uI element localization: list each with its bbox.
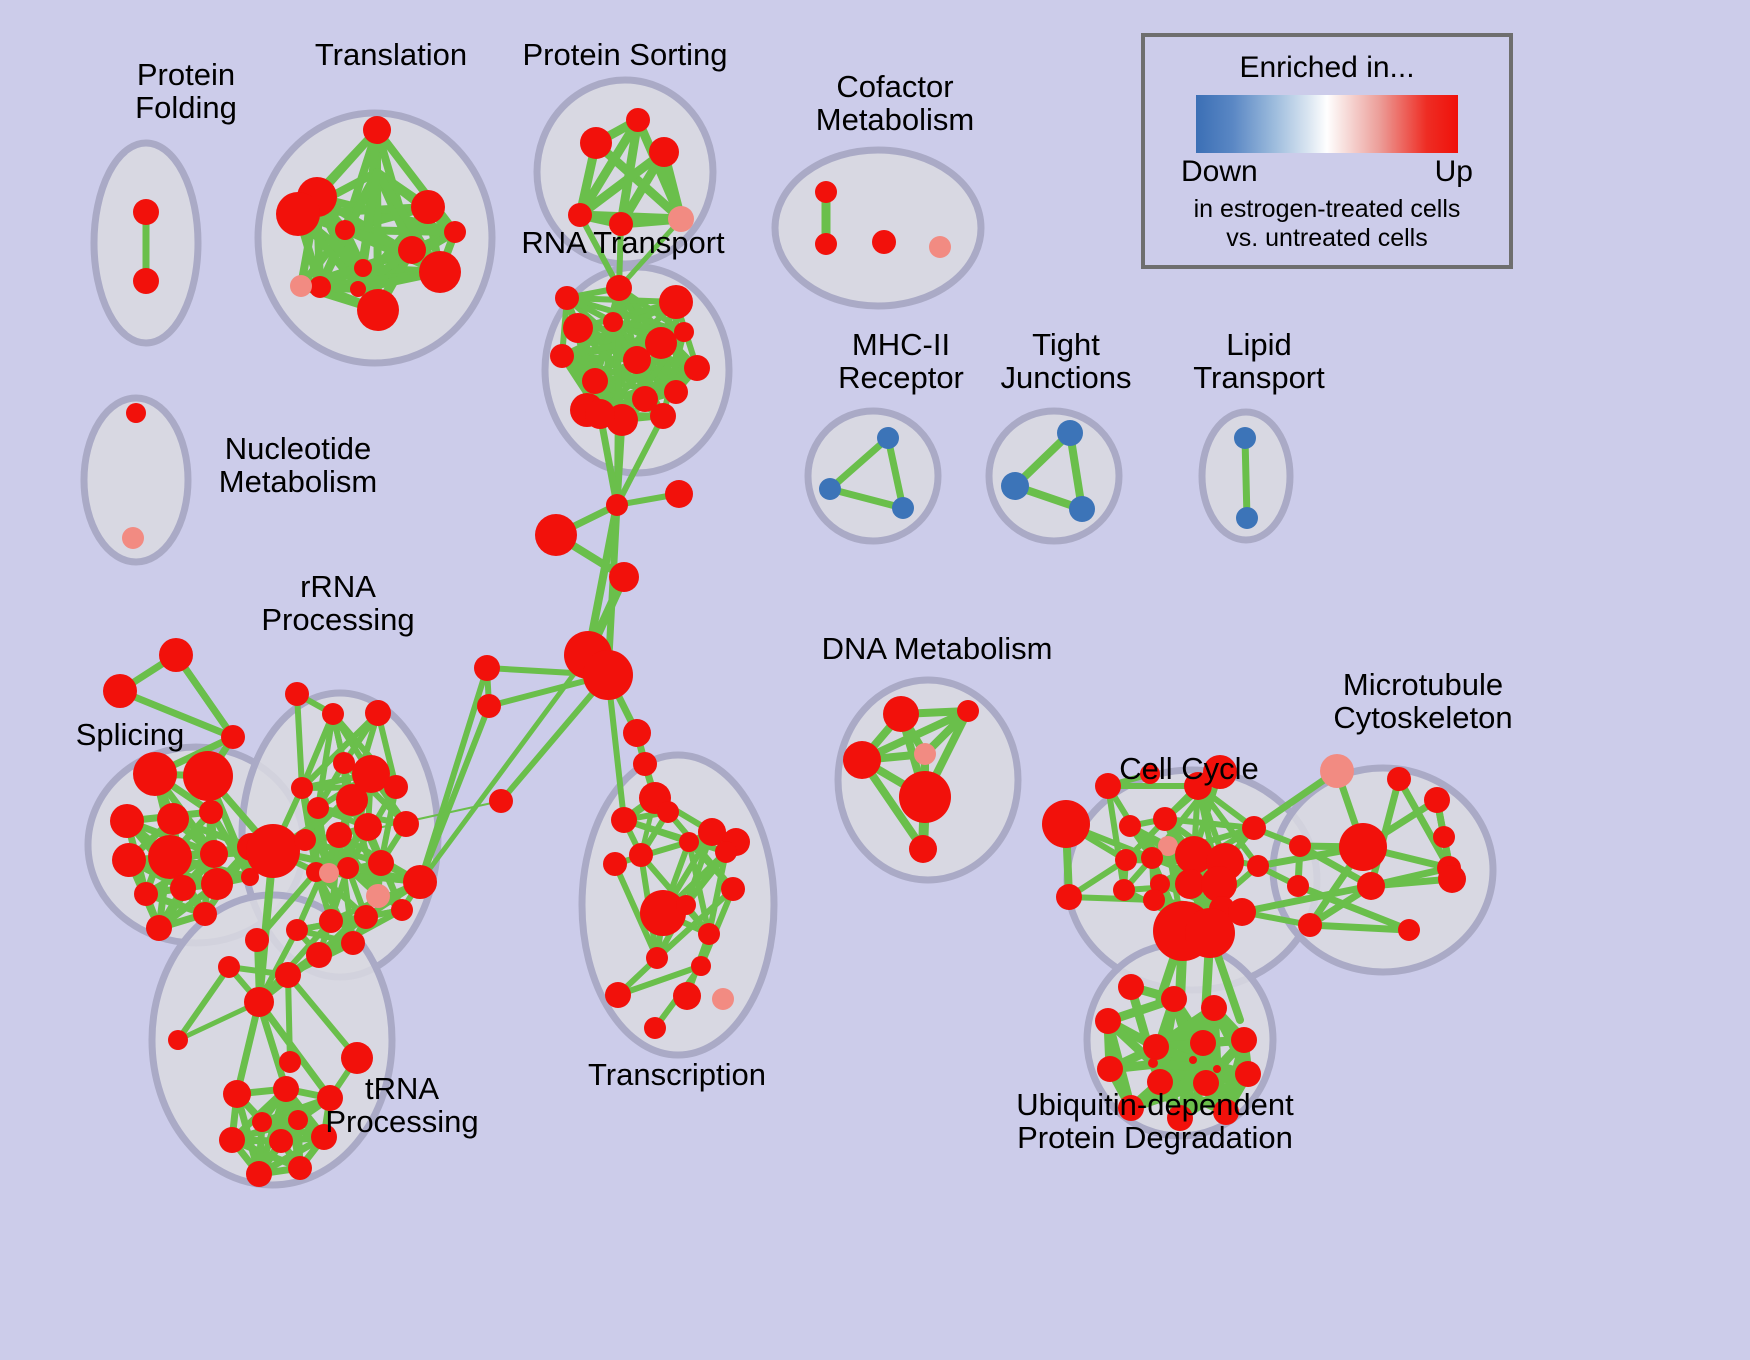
network-node — [665, 480, 693, 508]
network-node — [650, 403, 676, 429]
network-node — [899, 771, 951, 823]
network-node — [1298, 913, 1322, 937]
network-node — [1185, 908, 1235, 958]
network-node — [1320, 754, 1354, 788]
network-node — [368, 850, 394, 876]
network-node — [306, 942, 332, 968]
cluster-label-tight-junctions: TightJunctions — [986, 328, 1146, 395]
network-node — [1175, 869, 1205, 899]
network-edge — [1245, 438, 1247, 518]
network-node — [1438, 865, 1466, 893]
network-node — [201, 868, 233, 900]
network-node — [350, 281, 366, 297]
network-node — [221, 725, 245, 749]
cluster-label-rna-transport: RNA Transport — [508, 226, 738, 259]
network-node — [1115, 849, 1137, 871]
network-node — [168, 1030, 188, 1050]
legend-title: Enriched in... — [1145, 51, 1509, 85]
network-node — [288, 1110, 308, 1130]
network-node — [273, 1076, 299, 1102]
cluster-ellipse-cofactor-metabolism — [775, 150, 981, 306]
network-node — [1289, 835, 1311, 857]
network-node — [1069, 496, 1095, 522]
network-node — [914, 743, 936, 765]
network-node — [474, 655, 500, 681]
network-node — [1433, 826, 1455, 848]
network-node — [646, 947, 668, 969]
network-node — [691, 956, 711, 976]
network-node — [1201, 995, 1227, 1021]
network-node — [676, 895, 696, 915]
network-node — [1143, 889, 1165, 911]
network-node — [276, 192, 320, 236]
cluster-label-cell-cycle: Cell Cycle — [1104, 752, 1274, 785]
network-node — [603, 312, 623, 332]
network-node — [1189, 1056, 1197, 1064]
network-node — [309, 276, 331, 298]
network-node — [550, 344, 574, 368]
network-node — [1001, 472, 1029, 500]
network-node — [715, 841, 737, 863]
network-node — [170, 875, 196, 901]
network-node — [1242, 816, 1266, 840]
legend-low-label: Down — [1181, 155, 1258, 189]
network-node — [957, 700, 979, 722]
network-node — [398, 236, 426, 264]
cluster-label-cofactor-metabolism: CofactorMetabolism — [790, 70, 1000, 137]
network-node — [1213, 1065, 1221, 1073]
network-node — [883, 696, 919, 732]
network-node — [391, 899, 413, 921]
network-node — [199, 800, 223, 824]
network-node — [133, 752, 177, 796]
legend-subtitle-line1: in estrogen-treated cells — [1145, 195, 1509, 224]
cluster-label-splicing: Splicing — [60, 718, 200, 751]
network-node — [477, 694, 501, 718]
network-node — [1118, 974, 1144, 1000]
network-node — [341, 931, 365, 955]
network-node — [1095, 1008, 1121, 1034]
network-node — [200, 840, 228, 868]
network-node — [1153, 807, 1177, 831]
network-node — [1339, 823, 1387, 871]
network-node — [335, 220, 355, 240]
network-node — [605, 982, 631, 1008]
network-node — [336, 784, 368, 816]
network-node — [623, 719, 651, 747]
enrichment-map-figure: ProteinFoldingTranslationProtein Sorting… — [0, 0, 1750, 1360]
cluster-label-nucleotide-metabolism: NucleotideMetabolism — [198, 432, 398, 499]
network-node — [1113, 879, 1135, 901]
network-node — [365, 700, 391, 726]
network-node — [246, 1161, 272, 1187]
network-node — [1097, 1056, 1123, 1082]
network-node — [246, 824, 300, 878]
network-node — [1057, 420, 1083, 446]
network-node — [535, 514, 577, 556]
network-node — [585, 399, 615, 429]
network-node — [286, 919, 308, 941]
cluster-label-ubiquitin-protein-degradation: Ubiquitin-dependentProtein Degradation — [990, 1088, 1320, 1155]
network-edge — [420, 655, 588, 882]
network-node — [326, 822, 352, 848]
network-node — [657, 801, 679, 823]
network-node — [134, 882, 158, 906]
network-node — [1424, 787, 1450, 813]
network-node — [290, 275, 312, 297]
network-node — [126, 403, 146, 423]
network-node — [644, 1017, 666, 1039]
network-node — [909, 835, 937, 863]
network-node — [363, 116, 391, 144]
network-node — [133, 199, 159, 225]
network-node — [1236, 507, 1258, 529]
cluster-label-protein-sorting: Protein Sorting — [505, 38, 745, 71]
network-node — [269, 1129, 293, 1153]
network-node — [606, 275, 632, 301]
network-node — [649, 137, 679, 167]
network-node — [159, 638, 193, 672]
network-node — [819, 478, 841, 500]
network-node — [1148, 1058, 1158, 1068]
network-node — [366, 884, 390, 908]
network-node — [633, 752, 657, 776]
network-node — [110, 804, 144, 838]
cluster-label-rrna-processing: rRNAProcessing — [248, 570, 428, 637]
network-node — [307, 797, 329, 819]
network-node — [354, 905, 378, 929]
network-node — [1143, 1034, 1169, 1060]
network-node — [712, 988, 734, 1010]
cluster-label-trna-processing: tRNAProcessing — [312, 1072, 492, 1139]
network-node — [1287, 875, 1309, 897]
network-node — [275, 962, 301, 988]
network-node — [698, 923, 720, 945]
network-node — [146, 915, 172, 941]
legend-high-label: Up — [1435, 155, 1473, 189]
network-node — [555, 286, 579, 310]
cluster-label-transcription: Transcription — [572, 1058, 782, 1091]
network-node — [354, 813, 382, 841]
network-node — [223, 1080, 251, 1108]
network-node — [333, 752, 355, 774]
network-node — [103, 674, 137, 708]
network-node — [664, 380, 688, 404]
network-node — [929, 236, 951, 258]
network-node — [1161, 986, 1187, 1012]
network-node — [580, 127, 612, 159]
network-node — [319, 909, 343, 933]
network-node — [1119, 815, 1141, 837]
network-node — [1141, 847, 1163, 869]
network-node — [411, 190, 445, 224]
network-node — [219, 1127, 245, 1153]
network-node — [1042, 800, 1090, 848]
cluster-label-microtubule-cytoskeleton: MicrotubuleCytoskeleton — [1308, 668, 1538, 735]
network-node — [337, 857, 359, 879]
network-node — [285, 682, 309, 706]
network-node — [1247, 855, 1269, 877]
network-node — [112, 843, 146, 877]
network-node — [721, 877, 745, 901]
network-node — [148, 835, 192, 879]
network-node — [1056, 884, 1082, 910]
network-node — [626, 108, 650, 132]
network-edge — [1310, 925, 1409, 930]
network-node — [609, 562, 639, 592]
network-node — [815, 233, 837, 255]
network-node — [1398, 919, 1420, 941]
network-node — [843, 741, 881, 779]
network-node — [673, 982, 701, 1010]
network-node — [403, 865, 437, 899]
network-node — [892, 497, 914, 519]
network-node — [244, 987, 274, 1017]
network-node — [444, 221, 466, 243]
network-node — [684, 355, 710, 381]
network-node — [294, 829, 316, 851]
network-node — [384, 775, 408, 799]
network-node — [606, 494, 628, 516]
network-node — [611, 807, 637, 833]
cluster-label-dna-metabolism: DNA Metabolism — [812, 632, 1062, 665]
network-node — [872, 230, 896, 254]
network-node — [640, 890, 686, 936]
network-node — [1231, 1027, 1257, 1053]
network-node — [877, 427, 899, 449]
network-node — [489, 789, 513, 813]
network-node — [645, 327, 677, 359]
network-node — [245, 928, 269, 952]
network-node — [568, 203, 592, 227]
network-node — [659, 285, 693, 319]
network-node — [133, 268, 159, 294]
cluster-label-protein-folding: ProteinFolding — [86, 58, 286, 125]
network-node — [1234, 427, 1256, 449]
network-node — [674, 322, 694, 342]
network-node — [357, 289, 399, 331]
network-node — [122, 527, 144, 549]
legend-gradient-bar — [1196, 95, 1458, 153]
network-node — [679, 832, 699, 852]
legend-box: Enriched in... Down Up in estrogen-treat… — [1141, 33, 1513, 269]
network-node — [1235, 1061, 1261, 1087]
cluster-label-lipid-transport: LipidTransport — [1174, 328, 1344, 395]
network-node — [279, 1051, 301, 1073]
network-node — [1387, 767, 1411, 791]
network-node — [393, 811, 419, 837]
network-node — [252, 1112, 272, 1132]
legend-endpoint-labels: Down Up — [1181, 155, 1473, 189]
network-node — [322, 703, 344, 725]
network-node — [291, 777, 313, 799]
network-node — [1190, 1030, 1216, 1056]
network-node — [218, 956, 240, 978]
network-node — [815, 181, 837, 203]
network-node — [1357, 872, 1385, 900]
network-node — [563, 313, 593, 343]
network-node — [603, 852, 627, 876]
cluster-label-mhc-ii-receptor: MHC-IIReceptor — [806, 328, 996, 395]
network-node — [583, 650, 633, 700]
network-node — [419, 251, 461, 293]
cluster-label-translation: Translation — [286, 38, 496, 71]
network-node — [157, 803, 189, 835]
legend-subtitle: in estrogen-treated cells vs. untreated … — [1145, 195, 1509, 252]
network-node — [354, 259, 372, 277]
network-node — [319, 863, 339, 883]
cluster-ellipse-mhc-ii-receptor — [808, 411, 938, 541]
network-node — [629, 843, 653, 867]
network-node — [341, 1042, 373, 1074]
network-node — [582, 368, 608, 394]
network-node — [183, 751, 233, 801]
network-node — [193, 902, 217, 926]
network-node — [288, 1156, 312, 1180]
legend-subtitle-line2: vs. untreated cells — [1145, 224, 1509, 253]
network-node — [698, 818, 726, 846]
